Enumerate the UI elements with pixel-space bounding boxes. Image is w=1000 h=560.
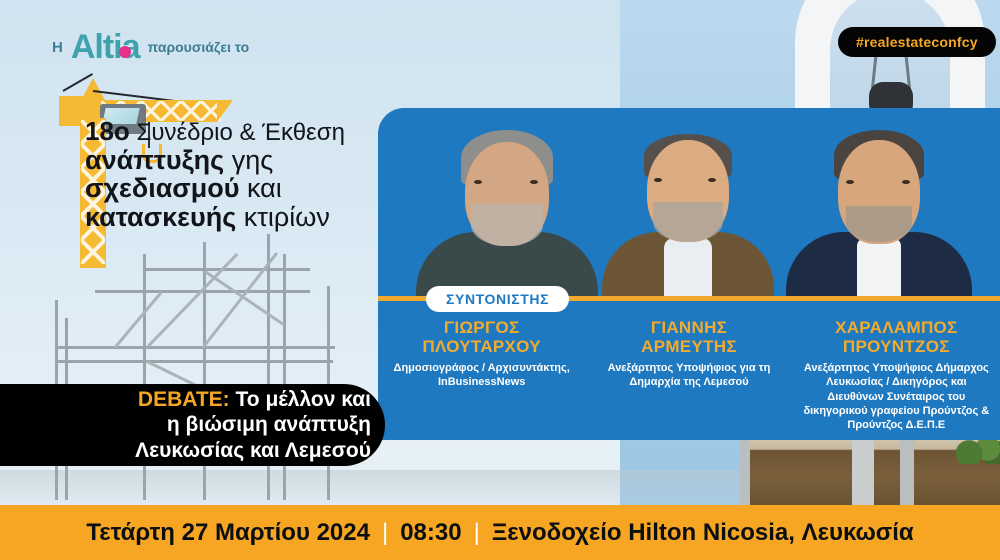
headline-line-1-rest: Συνέδριο & Έκθεση [136,119,344,146]
stone-wall-photo [740,440,1000,505]
event-footer-bar: Τετάρτη 27 Μαρτίου 2024 | 08:30 | Ξενοδο… [0,505,1000,560]
headline-line-2-bold: ανάπτυξης [85,145,224,175]
debate-text-block: DEBATE: Το μέλλον και η βιώσιμη ανάπτυξη… [135,387,385,464]
speaker-portrait-3 [786,108,972,296]
speaker-2-first-name: ΓΙΑΝΝΗΣ [593,318,784,337]
headline-line-4-rest: κτιρίων [244,202,330,232]
debate-line-3: Λευκωσίας και Λεμεσού [135,438,371,464]
speaker-card-1: ΓΙΩΡΓΟΣ ΠΛΟΥΤΑΡΧΟΥ Δημοσιογράφος / Αρχισ… [378,318,585,433]
headline-line-3-rest: και [247,173,282,203]
debate-keyword: DEBATE: [138,388,230,411]
headline-line-3: σχεδιασμού και [85,174,385,203]
speaker-1-last-name: ΠΛΟΥΤΑΡΧΟΥ [386,337,577,356]
footer-separator-1: | [382,519,388,547]
speaker-photo-row [378,108,1000,296]
speaker-2-last-name: ΑΡΜΕΥΤΗΣ [593,337,784,356]
wall-pillar-left [740,440,750,505]
wall-pillar-mid [852,440,874,505]
edition-number: 18ο [85,116,130,146]
headline-line-3-bold: σχεδιασμού [85,173,240,203]
speaker-names-row: ΓΙΩΡΓΟΣ ΠΛΟΥΤΑΡΧΟΥ Δημοσιογράφος / Αρχισ… [378,318,1000,433]
altia-logo: Altia [71,30,140,64]
speaker-3-role: Ανεξάρτητος Υποψήφιος Δήμαρχος Λευκωσίας… [801,361,992,432]
presenter-suffix: παρουσιάζει το [148,39,250,55]
hashtag-pill[interactable]: #realestateconfcy [838,27,996,57]
debate-line-2: η βιώσιμη ανάπτυξη [135,412,371,438]
moderator-badge: ΣΥΝΤΟΝΙΣΤΗΣ [426,286,569,312]
speaker-1-first-name: ΓΙΩΡΓΟΣ [386,318,577,337]
tree-foliage [954,440,1000,464]
presenter-line: Η Altia παρουσιάζει το [52,30,249,64]
speaker-card-2: ΓΙΑΝΝΗΣ ΑΡΜΕΥΤΗΣ Ανεξάρτητος Υποψήφιος γ… [585,318,792,433]
headline-line-4-bold: κατασκευής [85,202,236,232]
speaker-2-role: Ανεξάρτητος Υποψήφιος για τη Δημαρχία τη… [593,361,784,390]
speaker-portrait-1 [416,108,598,296]
debate-callout: DEBATE: Το μέλλον και η βιώσιμη ανάπτυξη… [0,384,385,466]
altia-dot-icon [119,46,131,58]
speaker-card-3: ΧΑΡΑΛΑΜΠΟΣ ΠΡΟΥΝΤΖΟΣ Ανεξάρτητος Υποψήφι… [793,318,1000,433]
speaker-3-last-name: ΠΡΟΥΝΤΖΟΣ [801,337,992,356]
debate-line-1: DEBATE: Το μέλλον και [135,387,371,413]
speakers-panel: ΣΥΝΤΟΝΙΣΤΗΣ ΓΙΩΡΓΟΣ ΠΛΟΥΤΑΡΧΟΥ Δημοσιογρ… [378,108,1000,440]
event-venue: Ξενοδοχείο Hilton Nicosia, Λευκωσία [492,519,914,547]
footer-separator-2: | [474,519,480,547]
event-headline: 18ο Συνέδριο & Έκθεση ανάπτυξης γης σχεδ… [85,118,385,231]
headline-line-1: 18ο Συνέδριο & Έκθεση [85,118,385,146]
presenter-prefix: Η [52,39,63,56]
speaker-portrait-2 [602,108,774,296]
event-time: 08:30 [400,519,461,547]
headline-line-2-rest: γης [232,145,274,175]
event-date: Τετάρτη 27 Μαρτίου 2024 [86,519,370,547]
headline-line-4: κατασκευής κτιρίων [85,203,385,232]
conference-promo-banner: Η Altia παρουσιάζει το 18ο Συνέδριο & Έκ… [0,0,1000,560]
wall-pillar-right [900,440,914,505]
speaker-1-role: Δημοσιογράφος / Αρχισυντάκτης, InBusines… [386,361,577,390]
speaker-3-first-name: ΧΑΡΑΛΑΜΠΟΣ [801,318,992,337]
headline-line-2: ανάπτυξης γης [85,146,385,175]
debate-line-1-rest: Το μέλλον και [236,388,371,411]
